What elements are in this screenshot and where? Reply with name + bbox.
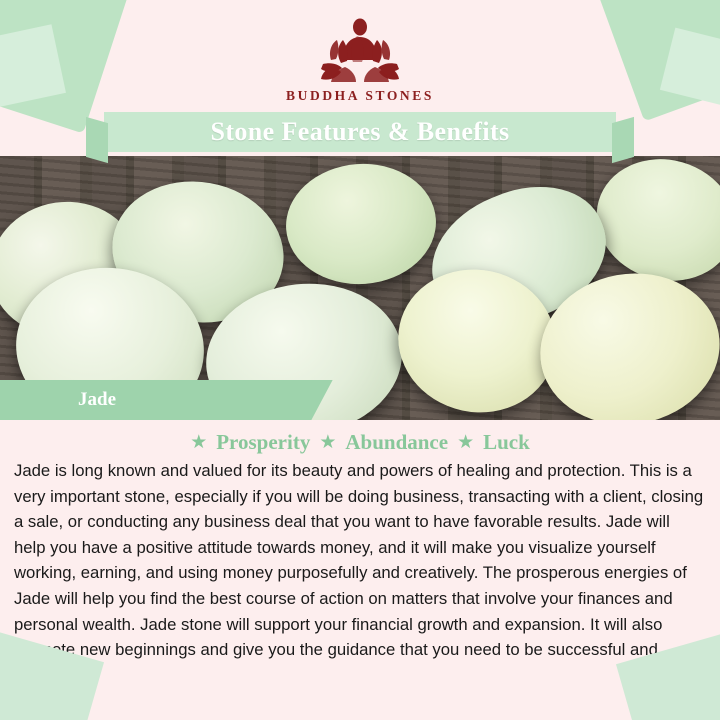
keyword-prosperity: Prosperity	[216, 430, 310, 455]
description-text: Jade is long known and valued for its be…	[14, 458, 706, 688]
star-icon: ★	[319, 433, 336, 452]
stone-name-label: Jade	[0, 380, 296, 420]
keyword-luck: Luck	[483, 430, 530, 455]
keyword-abundance: Abundance	[345, 430, 448, 455]
lotus-meditation-icon	[301, 14, 419, 86]
keyword-list: ★ Prosperity ★ Abundance ★ Luck	[0, 430, 720, 455]
stone-info-card: BUDDHA STONES Stone Features & Benefits …	[0, 0, 720, 720]
brand-name: BUDDHA STONES	[0, 88, 720, 104]
page-title: Stone Features & Benefits	[104, 112, 616, 152]
stone-name: Jade	[0, 380, 296, 420]
star-icon: ★	[457, 433, 474, 452]
section-title-banner: Stone Features & Benefits	[104, 112, 616, 152]
star-icon: ★	[190, 433, 207, 452]
brand-logo: BUDDHA STONES	[0, 14, 720, 104]
